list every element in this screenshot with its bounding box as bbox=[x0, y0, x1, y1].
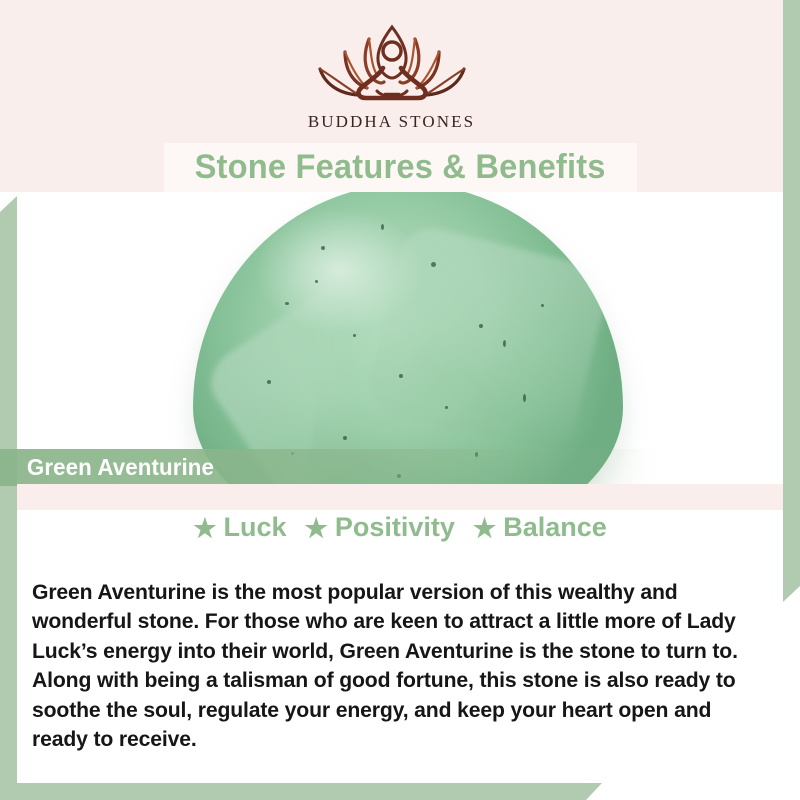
benefit-label: Balance bbox=[503, 512, 607, 543]
stone-name: Green Aventurine bbox=[27, 454, 214, 481]
green-aventurine-stone bbox=[193, 192, 623, 484]
benefit-label: Luck bbox=[224, 512, 287, 543]
stone-description: Green Aventurine is the most popular ver… bbox=[32, 578, 763, 755]
frame-band-left bbox=[0, 212, 17, 800]
frame-band-bottom bbox=[0, 783, 586, 800]
brand-logo: BUDDHA STONES bbox=[0, 18, 783, 132]
page-title: Stone Features & Benefits bbox=[195, 148, 606, 187]
star-icon: ★ bbox=[473, 515, 496, 541]
benefits-list: ★ Luck ★ Positivity ★ Balance bbox=[17, 512, 783, 543]
benefit-item-positivity: ★ Positivity bbox=[305, 512, 455, 543]
benefit-label: Positivity bbox=[335, 512, 455, 543]
frame-band-right bbox=[783, 0, 800, 586]
stone-info-poster: BUDDHA STONES Stone Features & Benefits bbox=[0, 0, 800, 800]
benefit-item-luck: ★ Luck bbox=[193, 512, 286, 543]
lotus-meditation-icon bbox=[309, 18, 475, 110]
stone-name-band: Green Aventurine bbox=[0, 449, 660, 486]
brand-name: BUDDHA STONES bbox=[0, 112, 783, 132]
benefit-item-balance: ★ Balance bbox=[473, 512, 607, 543]
star-icon: ★ bbox=[305, 515, 328, 541]
stone-photo bbox=[17, 192, 783, 484]
stone-photo-panel bbox=[17, 192, 783, 484]
page-title-box: Stone Features & Benefits bbox=[164, 143, 637, 192]
header-panel: BUDDHA STONES Stone Features & Benefits bbox=[0, 0, 783, 192]
star-icon: ★ bbox=[193, 515, 216, 541]
copy-background bbox=[17, 484, 783, 510]
